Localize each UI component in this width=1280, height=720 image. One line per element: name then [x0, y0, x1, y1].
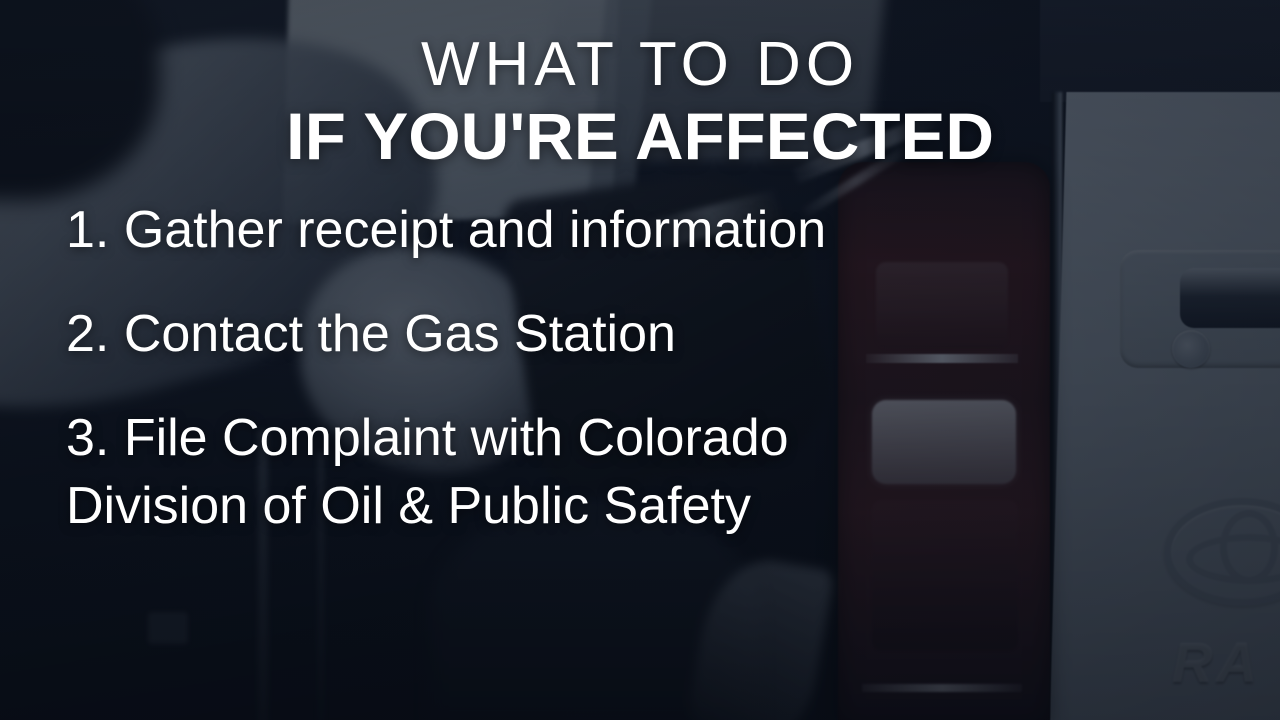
step-item-2: 2. Contact the Gas Station: [66, 300, 1066, 368]
step-item-3: 3. File Complaint with Colorado Division…: [66, 404, 1066, 540]
steps-list: 1. Gather receipt and information 2. Con…: [66, 196, 1066, 540]
headline-line-one: WHAT TO DO: [0, 30, 1280, 100]
headline-line-two: IF YOU'RE AFFECTED: [0, 100, 1280, 172]
video-frame: RA WHAT TO DO IF YOU'RE AFFECTED 1. Gath…: [0, 0, 1280, 720]
step-item-1: 1. Gather receipt and information: [66, 196, 1066, 264]
text-overlay: WHAT TO DO IF YOU'RE AFFECTED 1. Gather …: [0, 0, 1280, 720]
